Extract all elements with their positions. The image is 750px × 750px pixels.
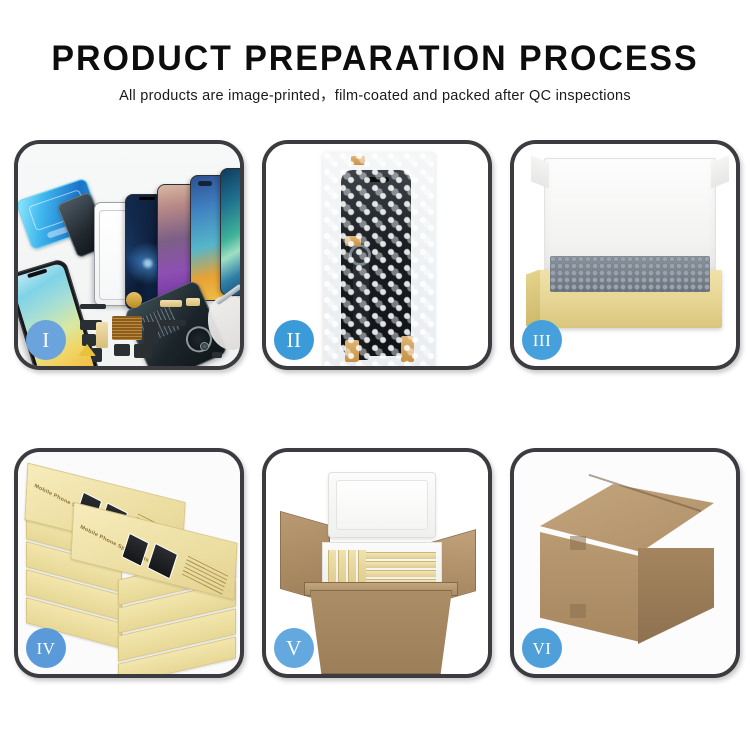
part-camera-lens	[200, 342, 209, 351]
spare-parts-group	[78, 286, 240, 366]
step-badge-3-label: III	[533, 332, 551, 349]
step-badge-4-label: IV	[37, 640, 56, 657]
packed-box-h3	[366, 570, 436, 577]
panel-open-inner-box[interactable]: III	[510, 140, 740, 370]
part-plate	[144, 322, 158, 344]
part-flex-cable-b	[186, 298, 200, 306]
part-flex-cable-a	[160, 300, 182, 307]
step-badge-2-label: II	[287, 330, 302, 351]
step-badge-5: V	[274, 628, 314, 668]
part-ribbon	[96, 322, 108, 348]
step-badge-2: II	[274, 320, 314, 360]
punch-hole-camera	[198, 181, 212, 186]
panel-stacked-retail-boxes[interactable]: Mobile Phone Spare Parts Mobile Phone Sp…	[14, 448, 244, 678]
panel-bubble-wrapped-screen[interactable]: II	[262, 140, 492, 370]
process-panel-grid: I	[14, 140, 740, 685]
bubble-highlight-texture	[323, 152, 435, 366]
part-button-set	[114, 344, 130, 356]
panel-products-and-parts[interactable]: I	[14, 140, 244, 370]
step-badge-6: VI	[522, 628, 562, 668]
bubble-wrapped-package	[323, 152, 435, 366]
technician-hand	[208, 296, 240, 350]
step-badge-1: I	[26, 320, 66, 360]
styrofoam-lid	[328, 472, 436, 538]
part-antenna-strip	[160, 320, 186, 326]
box-tray	[538, 270, 722, 328]
step-badge-1-label: I	[42, 330, 50, 351]
packed-box-h1	[366, 552, 436, 559]
part-taptic	[134, 344, 152, 358]
page-subtitle: All products are image-printed，film-coat…	[0, 78, 750, 105]
phone-green-swirl	[220, 168, 240, 296]
carton-body	[310, 590, 452, 674]
panel-sealed-carton[interactable]: VI	[510, 448, 740, 678]
step-badge-5-label: V	[286, 638, 302, 659]
carton-tab-upper	[570, 536, 586, 550]
part-chip-grid	[112, 316, 142, 340]
part-screw-set	[212, 352, 222, 358]
step-badge-6-label: VI	[533, 640, 552, 657]
notch	[139, 197, 155, 200]
carton-tab-lower	[570, 604, 586, 618]
step-badge-4: IV	[26, 628, 66, 668]
part-yellow-wedge	[78, 344, 96, 356]
header: PRODUCT PREPARATION PROCESS All products…	[0, 0, 750, 105]
product-preparation-infographic: PRODUCT PREPARATION PROCESS All products…	[0, 0, 750, 750]
box-side-flap	[526, 269, 540, 326]
page-title: PRODUCT PREPARATION PROCESS	[11, 0, 739, 78]
step-badge-3: III	[522, 320, 562, 360]
packed-box-h2	[366, 561, 436, 568]
bubble-wrap-filling	[550, 256, 710, 292]
part-gold-speaker	[126, 292, 142, 308]
panel-carton-with-foam[interactable]: V	[262, 448, 492, 678]
part-connector-strip	[80, 304, 106, 309]
